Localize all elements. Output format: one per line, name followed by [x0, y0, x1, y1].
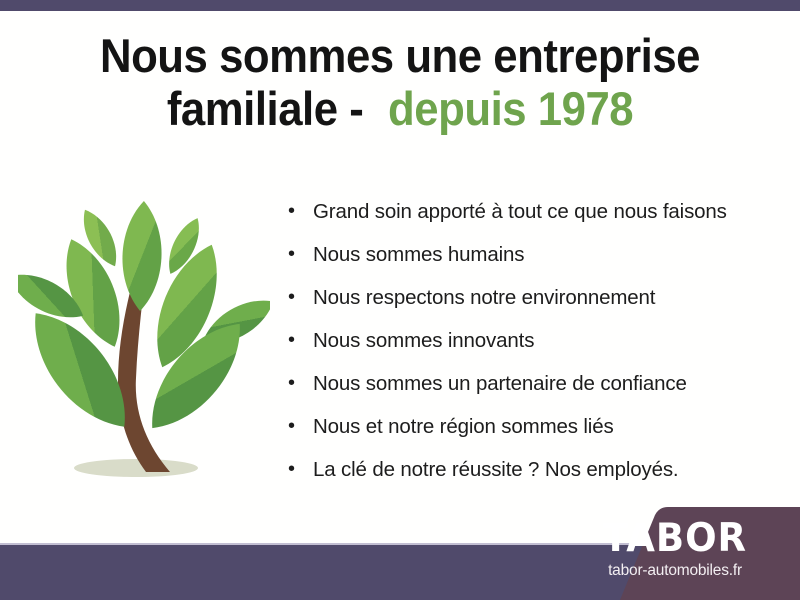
list-item-label: Nous sommes un partenaire de confiance	[313, 372, 687, 395]
bullet-marker-icon: •	[288, 276, 295, 319]
list-item-label: La clé de notre réussite ? Nos employés.	[313, 458, 678, 481]
bullet-marker-icon: •	[288, 362, 295, 405]
page-title: Nous sommes une entreprise familiale - d…	[28, 30, 772, 135]
bullet-marker-icon: •	[288, 190, 295, 233]
title-text-highlight: depuis 1978	[388, 82, 633, 135]
list-item: • Nous sommes humains	[283, 233, 783, 276]
list-item: • Nous et notre région sommes liés	[283, 405, 783, 448]
list-item: • Grand soin apporté à tout ce que nous …	[283, 190, 783, 233]
title-text-primary: Nous sommes une entreprise	[100, 29, 700, 82]
brand-logo-banner[interactable]: TABOR tabor-automobiles.fr	[558, 505, 800, 600]
list-item: • La clé de notre réussite ? Nos employé…	[283, 448, 783, 491]
bullet-marker-icon: •	[288, 448, 295, 491]
list-item-label: Nous sommes innovants	[313, 329, 534, 352]
list-item-label: Nous et notre région sommes liés	[313, 415, 614, 438]
bullet-marker-icon: •	[288, 319, 295, 362]
tree-ground-shadow	[74, 459, 198, 477]
tree-illustration	[18, 196, 270, 486]
logo-wordmark: TABOR	[564, 519, 786, 558]
title-text-secondary: familiale -	[167, 82, 375, 135]
list-item-label: Nous respectons notre environnement	[313, 286, 655, 309]
list-item: • Nous respectons notre environnement	[283, 276, 783, 319]
tree-leaf	[121, 200, 164, 311]
title-line-1: Nous sommes une entreprise	[28, 30, 772, 83]
list-item: • Nous sommes innovants	[283, 319, 783, 362]
list-item-label: Grand soin apporté à tout ce que nous fa…	[313, 200, 727, 223]
list-item: • Nous sommes un partenaire de confiance	[283, 362, 783, 405]
top-accent-bar	[0, 0, 800, 11]
title-line-2: familiale - depuis 1978	[28, 83, 772, 136]
list-item-label: Nous sommes humains	[313, 243, 524, 266]
bullet-marker-icon: •	[288, 405, 295, 448]
slide-canvas: Nous sommes une entreprise familiale - d…	[0, 0, 800, 600]
value-bullet-list: • Grand soin apporté à tout ce que nous …	[283, 190, 783, 491]
bullet-marker-icon: •	[288, 233, 295, 276]
logo-url-label: tabor-automobiles.fr	[558, 563, 792, 579]
